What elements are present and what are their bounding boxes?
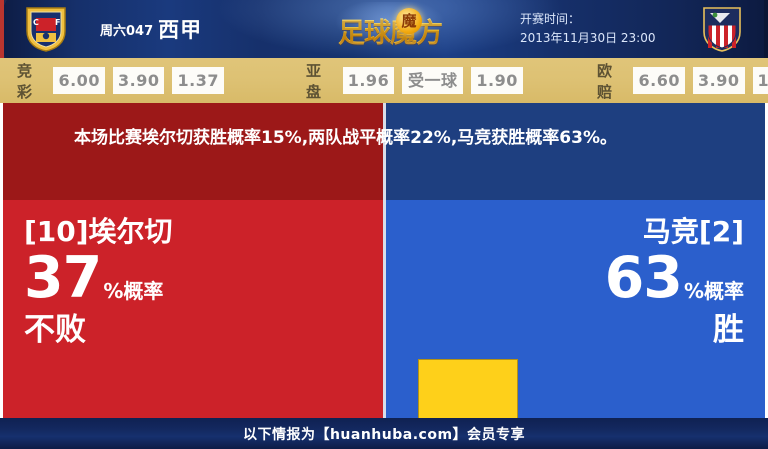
home-outcome-label: 不败 xyxy=(24,311,254,349)
odds-value-cell[interactable]: 1.51 xyxy=(753,67,768,94)
odds-group-yapan: 亚盘 1.96 受一球 1.90 xyxy=(306,60,531,102)
logo-text: 足球魔方 xyxy=(322,11,458,50)
away-probability-suffix: %概率 xyxy=(682,281,744,305)
away-probability-row: 63 %概率 xyxy=(514,251,744,305)
odds-value-cell[interactable]: 1.96 xyxy=(343,67,395,94)
home-probability-value: 37 xyxy=(24,251,101,305)
league-name-label: 西甲 xyxy=(158,14,202,44)
odds-value-cell[interactable]: 1.37 xyxy=(172,67,224,94)
odds-value-cell[interactable]: 1.90 xyxy=(471,67,523,94)
odds-group-label: 竞彩 xyxy=(17,60,46,102)
home-team-crest-icon: C F xyxy=(24,5,68,53)
odds-handicap-cell[interactable]: 受一球 xyxy=(402,67,463,94)
probability-panel: 本场比赛埃尔切获胜概率15%,两队战平概率22%,马竞获胜概率63%。 [10]… xyxy=(0,103,768,418)
away-outcome-label: 胜 xyxy=(514,311,744,349)
kickoff-value: 2013年11月30日 23:00 xyxy=(520,29,690,48)
home-probability-row: 37 %概率 xyxy=(24,251,254,305)
away-team-block: 马竞[2] 63 %概率 胜 xyxy=(514,215,744,349)
away-team-crest-icon xyxy=(700,5,744,53)
svg-text:C: C xyxy=(33,18,39,27)
panel-left-edge xyxy=(0,103,3,418)
logo-badge-char: 魔 xyxy=(396,8,422,34)
odds-value-cell[interactable]: 3.90 xyxy=(693,67,745,94)
odds-group-jingcai: 竞彩 6.00 3.90 1.37 xyxy=(17,60,232,102)
odds-group-oupei: 欧赔 6.60 3.90 1.51 xyxy=(597,60,768,102)
svg-text:F: F xyxy=(55,18,60,27)
header-left-edge xyxy=(0,0,4,58)
odds-value-cell[interactable]: 6.00 xyxy=(53,67,105,94)
home-team-block: [10]埃尔切 37 %概率 不败 xyxy=(24,215,254,349)
home-team-name: [10]埃尔切 xyxy=(24,215,254,249)
league-info: 周六047 西甲 xyxy=(100,0,202,58)
match-round-label: 周六047 xyxy=(100,20,153,39)
odds-group-label: 亚盘 xyxy=(306,60,336,102)
probability-summary-text: 本场比赛埃尔切获胜概率15%,两队战平概率22%,马竞获胜概率63%。 xyxy=(74,123,714,153)
odds-value-cell[interactable]: 3.90 xyxy=(113,67,165,94)
footer-text: 以下情报为【huanhuba.com】会员专享 xyxy=(243,424,525,444)
logo-badge-icon: 魔 xyxy=(396,8,422,34)
away-probability-value: 63 xyxy=(605,251,682,305)
match-probability-infographic: C F 周六047 西甲 足球魔方 魔 xyxy=(0,0,768,449)
kickoff-label: 开赛时间： xyxy=(520,10,690,29)
kickoff-info: 开赛时间： 2013年11月30日 23:00 xyxy=(520,10,690,48)
footer-bar: 以下情报为【huanhuba.com】会员专享 xyxy=(0,418,768,449)
site-logo[interactable]: 足球魔方 魔 xyxy=(322,2,458,56)
header-bar: C F 周六047 西甲 足球魔方 魔 xyxy=(0,0,768,58)
header-right-edge xyxy=(764,0,768,58)
odds-group-label: 欧赔 xyxy=(597,60,626,102)
away-team-name: 马竞[2] xyxy=(514,215,744,249)
odds-bar: 竞彩 6.00 3.90 1.37 亚盘 1.96 受一球 1.90 欧赔 6.… xyxy=(0,58,768,103)
odds-value-cell[interactable]: 6.60 xyxy=(633,67,685,94)
home-probability-suffix: %概率 xyxy=(101,281,163,305)
